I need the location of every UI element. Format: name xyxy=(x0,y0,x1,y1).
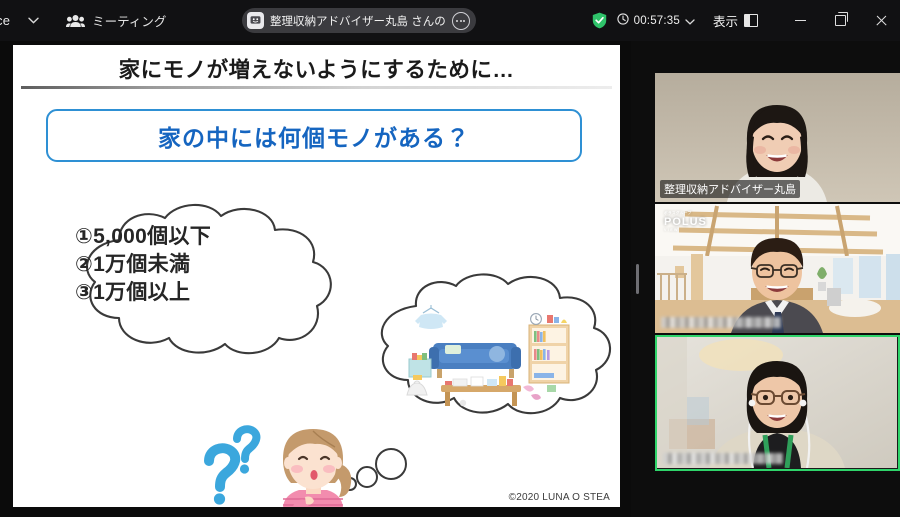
thinking-woman-illustration xyxy=(265,417,361,507)
meeting-timer-value: 00:57:35 xyxy=(634,15,680,27)
presentation-slide: 家にモノが増えないようにするために… 家の中には何個モノがある？ ①5,000個… xyxy=(13,45,620,507)
question-box-text: 家の中には何個モノがある？ xyxy=(158,119,470,153)
meeting-top-bar: ce ミーティング xyxy=(0,0,900,41)
participant-name-blurred xyxy=(663,453,783,464)
slide-copyright: ©2020 LUNA O STEA xyxy=(509,492,610,503)
view-layout-label: 表示 xyxy=(713,11,738,30)
cluttered-living-room-illustration xyxy=(401,303,586,413)
meeting-tab[interactable]: ミーティング xyxy=(66,11,166,30)
screen-share-owner-label: 整理収納アドバイザー丸島 さんの xyxy=(270,13,446,29)
account-label[interactable]: ce xyxy=(0,13,10,28)
close-window-icon[interactable] xyxy=(860,0,900,41)
clock-icon xyxy=(617,12,629,30)
participant-name-blurred xyxy=(661,317,781,328)
window-controls xyxy=(780,0,900,41)
video-gallery-panel: 整理収納アドバイザー丸島 xyxy=(643,41,900,517)
meeting-tab-label: ミーティング xyxy=(92,11,166,30)
screen-share-icon xyxy=(247,12,264,29)
people-group-icon xyxy=(66,14,85,28)
minimize-icon[interactable] xyxy=(780,0,820,41)
zoom-meeting-window: ce ミーティング xyxy=(0,0,900,517)
topbar-left-group: ce ミーティング xyxy=(0,0,166,41)
video-tile[interactable]: 整理収納アドバイザー丸島 xyxy=(655,73,900,202)
participant-name-label: 整理収納アドバイザー丸島 xyxy=(660,180,800,198)
slide-title: 家にモノが増えないようにするために… xyxy=(13,53,620,84)
restore-window-icon[interactable] xyxy=(820,0,860,41)
video-tile-active-speaker[interactable] xyxy=(655,335,900,471)
polus-watermark: ポラスグループ POLUS VIEW xyxy=(664,212,707,232)
answer-option: ②1万個未満 xyxy=(75,251,325,279)
layout-view-icon xyxy=(744,14,758,27)
meeting-timer[interactable]: 00:57:35 xyxy=(617,12,695,30)
chevron-down-icon[interactable] xyxy=(22,10,44,32)
screen-share-status-pill[interactable]: 整理収納アドバイザー丸島 さんの xyxy=(242,8,476,33)
resize-grip xyxy=(636,264,639,294)
shared-screen-area[interactable]: 家にモノが増えないようにするために… 家の中には何個モノがある？ ①5,000個… xyxy=(0,41,633,517)
resize-handle-icon[interactable] xyxy=(631,41,643,517)
title-divider xyxy=(21,86,612,89)
topbar-right-group: 00:57:35 表示 xyxy=(592,0,900,41)
question-box: 家の中には何個モノがある？ xyxy=(46,109,582,162)
more-options-icon[interactable] xyxy=(452,12,470,30)
answer-option: ③1万個以上 xyxy=(75,279,325,307)
view-layout-button[interactable]: 表示 xyxy=(713,11,758,30)
chevron-down-icon[interactable] xyxy=(685,12,695,30)
answer-option: ①5,000個以下 xyxy=(75,223,325,251)
video-tile[interactable]: ポラスグループ POLUS VIEW xyxy=(655,204,900,333)
green-shield-check-icon[interactable] xyxy=(592,12,607,29)
answer-options-list: ①5,000個以下 ②1万個未満 ③1万個以上 xyxy=(75,223,325,307)
participant-video-feed xyxy=(657,337,897,468)
